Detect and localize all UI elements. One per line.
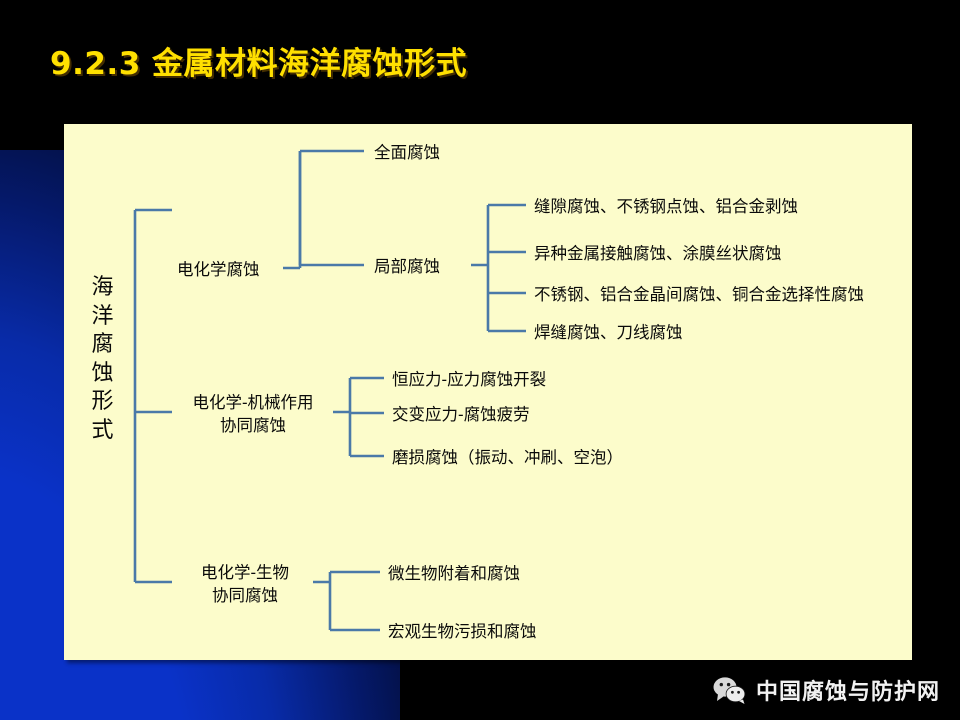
- leaf-mechanical-2: 交变应力-腐蚀疲劳: [392, 404, 530, 426]
- branch-electrochemical-biological-line2: 协同腐蚀: [176, 585, 314, 608]
- leaf-local-4: 焊缝腐蚀、刀线腐蚀: [534, 322, 683, 344]
- watermark-label: 中国腐蚀与防护网: [756, 674, 940, 706]
- watermark: 中国腐蚀与防护网: [713, 674, 940, 706]
- leaf-mechanical-1: 恒应力-应力腐蚀开裂: [392, 369, 546, 391]
- page-title: 9.2.3 金属材料海洋腐蚀形式: [50, 38, 467, 83]
- branch-electrochemical-mechanical-line1: 电化学-机械作用: [172, 392, 334, 415]
- node-local-corrosion: 局部腐蚀: [374, 256, 440, 278]
- branch-electrochemical-mechanical: 电化学-机械作用 协同腐蚀: [172, 392, 334, 438]
- branch-electrochemical-biological: 电化学-生物 协同腐蚀: [176, 562, 314, 608]
- leaf-biological-2: 宏观生物污损和腐蚀: [388, 621, 537, 643]
- wechat-icon: [713, 676, 747, 704]
- leaf-mechanical-3: 磨损腐蚀（振动、冲刷、空泡）: [392, 447, 623, 469]
- branch-electrochemical-mechanical-line2: 协同腐蚀: [172, 415, 334, 438]
- leaf-biological-1: 微生物附着和腐蚀: [388, 563, 520, 585]
- slide-canvas: 9.2.3 金属材料海洋腐蚀形式: [0, 0, 960, 720]
- root-char-1: 洋: [82, 303, 124, 332]
- node-general-corrosion: 全面腐蚀: [374, 142, 440, 164]
- leaf-local-3: 不锈钢、铝合金晶间腐蚀、铜合金选择性腐蚀: [534, 284, 864, 306]
- root-node: 海 洋 腐 蚀 形 式: [82, 274, 124, 446]
- root-char-2: 腐: [82, 331, 124, 360]
- root-char-0: 海: [82, 274, 124, 303]
- root-char-4: 形: [82, 388, 124, 417]
- diagram-card: 海 洋 腐 蚀 形 式 电化学腐蚀 电化学-机械作用 协同腐蚀 电化学-生物 协…: [64, 124, 912, 660]
- root-char-3: 蚀: [82, 360, 124, 389]
- branch-electrochemical-biological-line1: 电化学-生物: [176, 562, 314, 585]
- root-char-5: 式: [82, 417, 124, 446]
- leaf-local-2: 异种金属接触腐蚀、涂膜丝状腐蚀: [534, 243, 782, 265]
- branch-electrochemical-corrosion: 电化学腐蚀: [177, 259, 260, 281]
- leaf-local-1: 缝隙腐蚀、不锈钢点蚀、铝合金剥蚀: [534, 196, 798, 218]
